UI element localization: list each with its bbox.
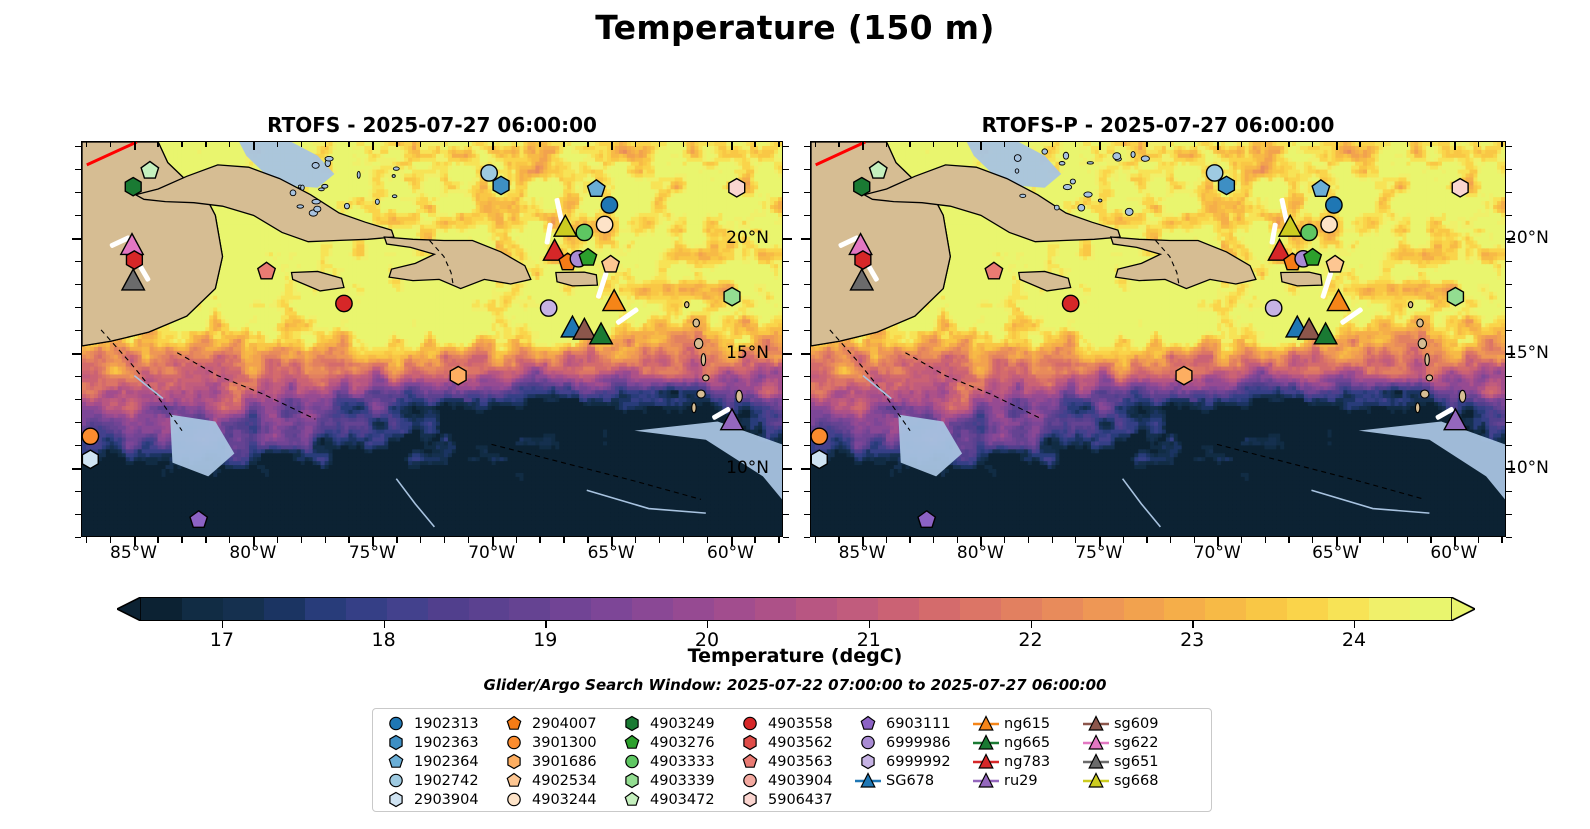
y-tick-right <box>783 422 789 423</box>
legend-item-label: 6999986 <box>883 735 951 751</box>
legend-marker-pentagon-icon <box>499 771 529 790</box>
y-tick-right <box>783 261 789 262</box>
x-tick <box>1241 537 1242 543</box>
y-tick-left <box>75 261 81 262</box>
x-tick-top <box>1336 141 1338 150</box>
colorbar-segment <box>1369 598 1412 620</box>
y-tick-left <box>801 353 810 355</box>
colorbar-segment <box>1124 598 1167 620</box>
y-tick-right <box>783 491 789 492</box>
y-tick-left <box>75 514 81 515</box>
y-tick-right <box>1506 330 1512 331</box>
x-tick-top <box>420 141 421 147</box>
y-tick-left <box>804 376 810 377</box>
legend-item-label: 4903339 <box>647 773 715 789</box>
legend-item-label: 5906437 <box>765 792 833 808</box>
x-tick-top <box>181 141 182 147</box>
legend-item-label: 4902534 <box>529 773 597 789</box>
x-tick-top <box>277 141 278 147</box>
x-tick-top <box>909 141 910 147</box>
x-tick <box>1407 537 1408 543</box>
x-tick <box>301 537 302 543</box>
y-tick-left <box>75 445 81 446</box>
legend-item-label: 1902742 <box>411 773 479 789</box>
y-tick-left <box>804 169 810 170</box>
legend-item-label: 4903563 <box>765 754 833 770</box>
legend-marker-triangle-icon <box>1081 752 1111 771</box>
x-tick-top <box>1288 141 1289 147</box>
x-tick-top <box>1194 141 1195 147</box>
legend-item-label: 6999992 <box>883 754 951 770</box>
map-field-rtofs-p <box>811 142 1505 536</box>
colorbar-segment <box>755 598 798 620</box>
colorbar-segment <box>469 598 512 620</box>
legend-marker-hexagon-icon <box>853 752 883 771</box>
legend-item-label: 4903276 <box>647 735 715 751</box>
x-tick-top <box>157 141 158 147</box>
x-tick-top <box>253 141 255 150</box>
legend-box[interactable]: 1902313190236319023641902742290390429040… <box>372 708 1212 812</box>
x-axis-label: 85°W <box>110 543 157 563</box>
platform-marker-3901686[interactable] <box>450 366 466 384</box>
legend-item-sg651[interactable]: sg651 <box>1081 752 1191 771</box>
colorbar-segment <box>223 598 266 620</box>
y-tick-right <box>1506 146 1512 147</box>
x-tick-top <box>1170 141 1171 147</box>
platform-marker-5906437[interactable] <box>1452 179 1468 197</box>
x-tick <box>635 537 636 543</box>
colorbar-segment <box>1164 598 1207 620</box>
x-tick <box>815 537 816 543</box>
legend-item-6999986[interactable]: 6999986 <box>853 733 971 752</box>
platform-marker-5906437[interactable] <box>729 179 745 197</box>
y-axis-label-right: 10°N <box>1506 458 1549 478</box>
legend-grid: 1902313190236319023641902742290390429040… <box>381 714 1191 809</box>
y-tick-left <box>75 192 81 193</box>
legend-item-label: 4903562 <box>765 735 833 751</box>
colorbar-over-arrow <box>1451 597 1475 621</box>
colorbar-segment <box>182 598 225 620</box>
y-tick-right <box>783 514 789 515</box>
y-tick-right <box>783 307 789 308</box>
legend-item-6903111[interactable]: 6903111 <box>853 714 971 733</box>
y-tick-right <box>1506 284 1512 285</box>
y-tick-left <box>75 376 81 377</box>
x-tick <box>1288 537 1289 543</box>
legend-item-label: SG678 <box>883 773 934 789</box>
y-axis-label-left: 10°N <box>726 458 769 478</box>
x-tick <box>1501 537 1502 543</box>
platform-marker-1902742[interactable] <box>1206 165 1222 181</box>
platform-marker-4903558[interactable] <box>855 251 871 269</box>
legend-item-label: 1902363 <box>411 735 479 751</box>
legend-marker-triangle-icon <box>1081 714 1111 733</box>
map-canvas-rtofs[interactable] <box>81 141 783 537</box>
x-tick-top <box>1478 141 1479 147</box>
legend-marker-pentagon-icon <box>381 752 411 771</box>
legend-item-label: sg668 <box>1111 773 1158 789</box>
x-tick-top <box>396 141 397 147</box>
legend-marker-pentagon-icon <box>735 752 765 771</box>
y-tick-left <box>804 215 810 216</box>
x-axis-label: 85°W <box>839 543 886 563</box>
legend-marker-circle-icon <box>853 733 883 752</box>
x-tick-top <box>301 141 302 147</box>
legend-column-2: 49032494903276490333349033394903472 <box>617 714 735 809</box>
x-tick-top <box>1454 141 1456 150</box>
platform-marker-1902313[interactable] <box>1326 197 1342 213</box>
legend-item-1902363[interactable]: 1902363 <box>381 733 499 752</box>
legend-marker-triangle-icon <box>1081 771 1111 790</box>
x-tick <box>86 537 87 543</box>
legend-column-0: 19023131902363190236419027422903904 <box>381 714 499 809</box>
x-tick-top <box>587 141 588 147</box>
x-tick-top <box>134 141 136 150</box>
platform-marker-4903562[interactable] <box>1062 295 1078 311</box>
x-tick-top <box>754 141 755 147</box>
y-tick-left <box>75 491 81 492</box>
y-tick-left <box>75 537 81 538</box>
legend-item-label: 4903244 <box>529 792 597 808</box>
platform-marker-4903339[interactable] <box>724 287 740 305</box>
colorbar-segment <box>1410 598 1453 620</box>
legend-item-label: 2904007 <box>529 716 597 732</box>
platform-marker-6999992[interactable] <box>540 300 556 316</box>
legend-item-2904007[interactable]: 2904007 <box>499 714 617 733</box>
colorbar-segment <box>141 598 184 620</box>
y-tick-left <box>804 514 810 515</box>
y-tick-left <box>72 353 81 355</box>
y-tick-right <box>783 192 789 193</box>
legend-item-ng665[interactable]: ng665 <box>971 733 1081 752</box>
x-tick-top <box>659 141 660 147</box>
platform-marker-1902363[interactable] <box>1219 176 1235 194</box>
x-tick-top <box>1028 141 1029 147</box>
map-panel-rtofs-p[interactable]: RTOFS-P - 2025-07-27 06:00:00 85°W80°W75… <box>810 141 1506 537</box>
y-axis-label-left: 20°N <box>726 228 769 248</box>
x-axis-label: 80°W <box>229 543 276 563</box>
legend-item-label: 4903558 <box>765 716 833 732</box>
colorbar-tick <box>869 621 870 628</box>
legend-item-4903904[interactable]: 4903904 <box>735 771 853 790</box>
legend-item-4903339[interactable]: 4903339 <box>617 771 735 790</box>
legend-marker-triangle-icon <box>971 752 1001 771</box>
x-axis-label: 60°W <box>707 543 754 563</box>
y-tick-right <box>1506 491 1512 492</box>
y-tick-left <box>72 238 81 240</box>
legend-item-label: sg651 <box>1111 754 1158 770</box>
legend-item-label: ru29 <box>1001 773 1038 789</box>
x-tick-top <box>683 141 684 147</box>
colorbar-segment <box>1083 598 1126 620</box>
x-tick-top <box>838 141 839 147</box>
x-tick-top <box>348 141 349 147</box>
legend-item-2903904[interactable]: 2903904 <box>381 790 499 809</box>
y-tick-left <box>804 330 810 331</box>
x-tick <box>563 537 564 543</box>
legend-item-1902742[interactable]: 1902742 <box>381 771 499 790</box>
legend-item-4903472[interactable]: 4903472 <box>617 790 735 809</box>
x-tick-top <box>1099 141 1101 150</box>
y-tick-left <box>804 422 810 423</box>
x-axis-label: 70°W <box>1194 543 1241 563</box>
legend-item-5906437[interactable]: 5906437 <box>735 790 853 809</box>
y-axis-label-right: 15°N <box>1506 343 1549 363</box>
legend-marker-circle-icon <box>381 771 411 790</box>
platform-marker-4903333[interactable] <box>1301 224 1317 240</box>
colorbar-segment <box>1287 598 1330 620</box>
legend-marker-pentagon-icon <box>617 733 647 752</box>
x-tick-top <box>325 141 326 147</box>
legend-marker-hexagon-icon <box>617 714 647 733</box>
legend-marker-pentagon-icon <box>853 714 883 733</box>
x-tick-top <box>1146 141 1147 147</box>
legend-marker-circle-icon <box>499 790 529 809</box>
legend-item-label: 3901300 <box>529 735 597 751</box>
colorbar-segment <box>919 598 962 620</box>
x-tick-top <box>516 141 517 147</box>
colorbar-segment <box>264 598 307 620</box>
x-tick-top <box>110 141 111 147</box>
x-tick-top <box>886 141 887 147</box>
x-tick-top <box>731 141 733 150</box>
colorbar-label: Temperature (degC) <box>0 645 1590 667</box>
legend-item-4903276[interactable]: 4903276 <box>617 733 735 752</box>
y-tick-right <box>783 468 792 470</box>
y-tick-right <box>783 399 789 400</box>
x-tick <box>659 537 660 543</box>
platform-marker-1902313[interactable] <box>601 197 617 213</box>
legend-item-label: 4903904 <box>765 773 833 789</box>
legend-marker-triangle-icon <box>853 771 883 790</box>
x-tick-top <box>444 141 445 147</box>
x-axis-label: 70°W <box>468 543 515 563</box>
x-tick <box>683 537 684 543</box>
x-tick <box>157 537 158 543</box>
legend-item-sg622[interactable]: sg622 <box>1081 733 1191 752</box>
y-tick-left <box>75 330 81 331</box>
legend-marker-hexagon-icon <box>381 790 411 809</box>
platform-marker-4903244[interactable] <box>1321 216 1337 232</box>
legend-item-4903562[interactable]: 4903562 <box>735 733 853 752</box>
x-axis-label: 80°W <box>957 543 1004 563</box>
map-panel-rtofs[interactable]: RTOFS - 2025-07-27 06:00:00 85°W80°W75°W… <box>81 141 783 537</box>
y-tick-right <box>783 330 789 331</box>
x-tick <box>444 537 445 543</box>
x-axis-label: 65°W <box>1312 543 1359 563</box>
y-tick-right <box>1506 192 1512 193</box>
legend-column-1: 29040073901300390168649025344903244 <box>499 714 617 809</box>
x-tick <box>1052 537 1053 543</box>
legend-item-4903558[interactable]: 4903558 <box>735 714 853 733</box>
platform-marker-3901686[interactable] <box>1176 366 1192 384</box>
y-tick-left <box>804 146 810 147</box>
legend-marker-triangle-icon <box>971 771 1001 790</box>
legend-item-label: 1902364 <box>411 754 479 770</box>
colorbar-tick <box>1192 621 1193 628</box>
colorbar-gradient <box>141 597 1451 621</box>
legend-item-1902313[interactable]: 1902313 <box>381 714 499 733</box>
panel-title-rtofs-p: RTOFS-P - 2025-07-27 06:00:00 <box>810 113 1506 137</box>
legend-column-6: sg609sg622sg651sg668 <box>1081 714 1191 809</box>
colorbar-segment <box>960 598 1003 620</box>
x-axis-label: 65°W <box>588 543 635 563</box>
legend-item-4902534[interactable]: 4902534 <box>499 771 617 790</box>
x-tick-top <box>1383 141 1384 147</box>
x-tick <box>1359 537 1360 543</box>
y-tick-left <box>804 192 810 193</box>
x-tick-top <box>1052 141 1053 147</box>
y-tick-right <box>1506 537 1512 538</box>
colorbar-tick <box>222 621 223 628</box>
x-tick-top <box>1312 141 1313 147</box>
legend-item-4903563[interactable]: 4903563 <box>735 752 853 771</box>
y-tick-right <box>783 445 789 446</box>
legend-item-ru29[interactable]: ru29 <box>971 771 1081 790</box>
x-tick-top <box>1075 141 1076 147</box>
platform-marker-4903249[interactable] <box>125 178 141 196</box>
legend-marker-triangle-icon <box>1081 733 1111 752</box>
x-tick <box>181 537 182 543</box>
x-axis-label: 75°W <box>1075 543 1122 563</box>
legend-item-1902364[interactable]: 1902364 <box>381 752 499 771</box>
legend-marker-hexagon-icon <box>735 790 765 809</box>
page-title: Temperature (150 m) <box>0 8 1590 47</box>
y-tick-right <box>783 215 789 216</box>
x-tick-top <box>980 141 982 150</box>
platform-marker-4903558[interactable] <box>126 251 142 269</box>
colorbar-segment <box>346 598 389 620</box>
legend-item-4903333[interactable]: 4903333 <box>617 752 735 771</box>
y-tick-left <box>804 307 810 308</box>
legend-item-label: ng783 <box>1001 754 1050 770</box>
legend-item-sg668[interactable]: sg668 <box>1081 771 1191 790</box>
x-tick <box>886 537 887 543</box>
y-tick-left <box>75 146 81 147</box>
legend-column-3: 49035584903562490356349039045906437 <box>735 714 853 809</box>
colorbar-tick <box>545 621 546 628</box>
x-tick-top <box>1217 141 1219 150</box>
legend-item-label: sg609 <box>1111 716 1158 732</box>
legend-item-sg609[interactable]: sg609 <box>1081 714 1191 733</box>
x-tick-top <box>862 141 864 150</box>
y-tick-right <box>783 238 792 240</box>
y-tick-left <box>75 215 81 216</box>
legend-marker-hexagon-icon <box>617 771 647 790</box>
colorbar-tick <box>1031 621 1032 628</box>
legend-item-6999992[interactable]: 6999992 <box>853 752 971 771</box>
platform-marker-1902742[interactable] <box>481 165 497 181</box>
legend-marker-hexagon-icon <box>735 733 765 752</box>
y-tick-left <box>804 445 810 446</box>
x-tick-top <box>1359 141 1360 147</box>
legend-item-SG678[interactable]: SG678 <box>853 771 971 790</box>
legend-item-3901300[interactable]: 3901300 <box>499 733 617 752</box>
y-axis-label-left: 15°N <box>726 343 769 363</box>
x-tick-top <box>372 141 374 150</box>
colorbar-segment <box>1001 598 1044 620</box>
x-tick-top <box>957 141 958 147</box>
y-tick-left <box>804 491 810 492</box>
y-tick-right <box>1506 261 1512 262</box>
colorbar-segment <box>878 598 921 620</box>
x-tick-top <box>492 141 494 150</box>
colorbar-segment <box>305 598 348 620</box>
y-tick-left <box>75 399 81 400</box>
platform-marker-3901300[interactable] <box>811 428 827 444</box>
platform-marker-2903904[interactable] <box>811 450 827 468</box>
legend-item-3901686[interactable]: 3901686 <box>499 752 617 771</box>
platform-marker-1902363[interactable] <box>493 176 509 194</box>
x-tick-top <box>611 141 613 150</box>
x-tick-top <box>635 141 636 147</box>
colorbar-tick <box>384 621 385 628</box>
colorbar-segment <box>837 598 880 620</box>
platform-marker-4903333[interactable] <box>576 224 592 240</box>
legend-marker-circle-icon <box>617 752 647 771</box>
colorbar-segment <box>714 598 757 620</box>
legend-item-label: 3901686 <box>529 754 597 770</box>
legend-column-5: ng615ng665ng783ru29 <box>971 714 1081 809</box>
platform-marker-2903904[interactable] <box>82 450 98 468</box>
legend-caption: Glider/Argo Search Window: 2025-07-22 07… <box>0 676 1590 694</box>
platform-marker-3901300[interactable] <box>82 428 98 444</box>
x-tick-top <box>778 141 779 147</box>
colorbar-under-arrow <box>117 597 141 621</box>
x-axis-label: 75°W <box>349 543 396 563</box>
colorbar-segment <box>550 598 593 620</box>
platform-marker-4903244[interactable] <box>596 216 612 232</box>
legend-item-ng615[interactable]: ng615 <box>971 714 1081 733</box>
legend-item-label: 4903333 <box>647 754 715 770</box>
x-tick-top <box>563 141 564 147</box>
y-tick-left <box>804 537 810 538</box>
legend-item-4903249[interactable]: 4903249 <box>617 714 735 733</box>
x-tick <box>1383 537 1384 543</box>
x-tick <box>277 537 278 543</box>
platform-marker-4903339[interactable] <box>1447 287 1463 305</box>
legend-marker-circle-icon <box>381 714 411 733</box>
legend-marker-pentagon-icon <box>499 714 529 733</box>
x-tick <box>205 537 206 543</box>
x-tick-top <box>468 141 469 147</box>
legend-item-4903244[interactable]: 4903244 <box>499 790 617 809</box>
platform-marker-6999992[interactable] <box>1265 300 1281 316</box>
map-field-rtofs <box>82 142 782 536</box>
x-tick-top <box>1004 141 1005 147</box>
x-tick-top <box>1501 141 1502 147</box>
platform-marker-4903249[interactable] <box>854 178 870 196</box>
legend-column-4: 690311169999866999992SG678 <box>853 714 971 809</box>
y-tick-left <box>75 307 81 308</box>
colorbar-segment <box>1246 598 1289 620</box>
y-tick-left <box>75 422 81 423</box>
legend-marker-circle-icon <box>735 714 765 733</box>
y-tick-right <box>783 353 792 355</box>
y-tick-right <box>783 537 789 538</box>
colorbar[interactable]: 1718192021222324 <box>117 597 1475 621</box>
x-tick <box>754 537 755 543</box>
colorbar-segment <box>509 598 552 620</box>
legend-item-label: ng615 <box>1001 716 1050 732</box>
x-tick-top <box>815 141 816 147</box>
legend-item-ng783[interactable]: ng783 <box>971 752 1081 771</box>
x-tick <box>1028 537 1029 543</box>
legend-marker-triangle-icon <box>971 733 1001 752</box>
platform-marker-4903562[interactable] <box>336 295 352 311</box>
map-canvas-rtofs-p[interactable] <box>810 141 1506 537</box>
y-axis-label-right: 20°N <box>1506 228 1549 248</box>
